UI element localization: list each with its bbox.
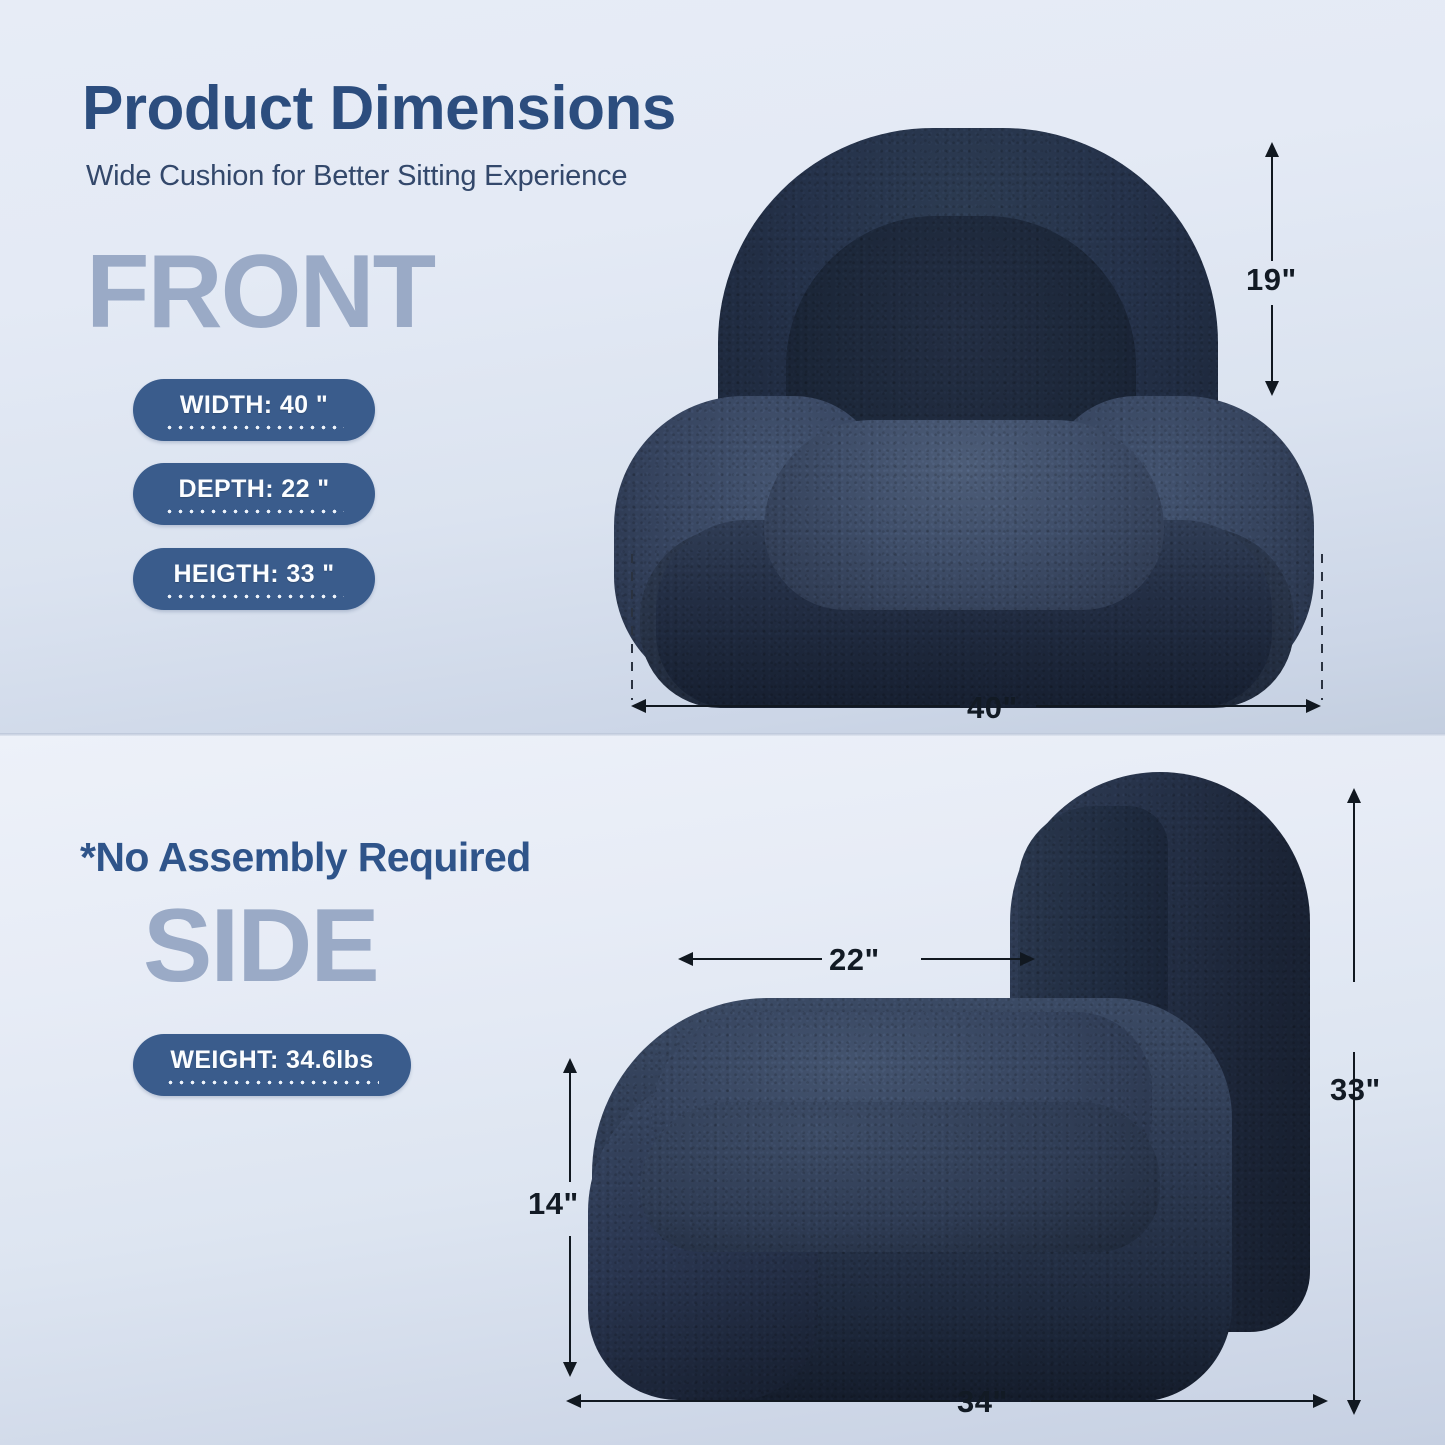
extension-line-left bbox=[631, 554, 633, 700]
dimension-line bbox=[1353, 802, 1355, 982]
dimension-line bbox=[921, 958, 1021, 960]
dimension-line bbox=[580, 1400, 950, 1402]
product-dimensions-infographic: Product Dimensions Wide Cushion for Bett… bbox=[0, 0, 1445, 1445]
spec-pill-height: HEIGTH: 33 " bbox=[133, 548, 375, 610]
arrow-up-icon bbox=[1347, 788, 1361, 803]
dimension-line bbox=[692, 958, 822, 960]
dimension-line bbox=[1031, 1400, 1313, 1402]
arrow-down-icon bbox=[563, 1362, 577, 1377]
dimension-label-22: 22" bbox=[829, 942, 880, 978]
arrow-down-icon bbox=[1265, 381, 1279, 396]
arrow-left-icon bbox=[631, 699, 646, 713]
chair-side-view-image bbox=[580, 772, 1310, 1402]
dimension-label-33: 33" bbox=[1330, 1072, 1381, 1108]
dimension-label-19: 19" bbox=[1246, 262, 1297, 298]
arrow-up-icon bbox=[1265, 142, 1279, 157]
arrow-down-icon bbox=[1347, 1400, 1361, 1415]
spec-pill-depth-label: DEPTH: 22 " bbox=[178, 475, 329, 504]
arrow-right-icon bbox=[1020, 952, 1035, 966]
spec-pill-depth: DEPTH: 22 " bbox=[133, 463, 375, 525]
page-subtitle: Wide Cushion for Better Sitting Experien… bbox=[86, 160, 627, 193]
dotted-underline bbox=[164, 594, 344, 599]
spec-pill-width: WIDTH: 40 " bbox=[133, 379, 375, 441]
dimension-line bbox=[1036, 705, 1306, 707]
dimension-line bbox=[569, 1072, 571, 1182]
spec-pill-width-label: WIDTH: 40 " bbox=[180, 391, 328, 420]
dotted-underline bbox=[164, 425, 344, 430]
dimension-line bbox=[1353, 1052, 1355, 1402]
extension-line-right bbox=[1321, 554, 1323, 700]
page-title: Product Dimensions bbox=[82, 78, 676, 140]
side-view-label: SIDE bbox=[143, 894, 378, 998]
spec-pill-weight: WEIGHT: 34.6lbs bbox=[133, 1034, 411, 1096]
arrow-up-icon bbox=[563, 1058, 577, 1073]
arrow-right-icon bbox=[1313, 1394, 1328, 1408]
dimension-label-34: 34" bbox=[957, 1384, 1008, 1420]
dimension-line bbox=[1271, 305, 1273, 383]
front-view-panel: Product Dimensions Wide Cushion for Bett… bbox=[0, 0, 1445, 736]
dimension-label-40: 40" bbox=[967, 690, 1018, 726]
arrow-left-icon bbox=[678, 952, 693, 966]
dimension-label-14: 14" bbox=[528, 1186, 579, 1222]
chair-front-view-image bbox=[614, 128, 1314, 708]
front-view-label: FRONT bbox=[86, 240, 434, 344]
chair-seat-cushion bbox=[764, 420, 1164, 610]
dotted-underline bbox=[165, 1080, 379, 1085]
dotted-underline bbox=[164, 509, 344, 514]
dimension-line bbox=[569, 1236, 571, 1364]
arrow-left-icon bbox=[566, 1394, 581, 1408]
dimension-line bbox=[1271, 156, 1273, 261]
arrow-right-icon bbox=[1306, 699, 1321, 713]
no-assembly-note: *No Assembly Required bbox=[80, 834, 531, 881]
dimension-line bbox=[645, 705, 960, 707]
spec-pill-weight-label: WEIGHT: 34.6lbs bbox=[170, 1046, 373, 1075]
chair-seat-lip bbox=[640, 1102, 1160, 1252]
spec-pill-height-label: HEIGTH: 33 " bbox=[173, 560, 334, 589]
